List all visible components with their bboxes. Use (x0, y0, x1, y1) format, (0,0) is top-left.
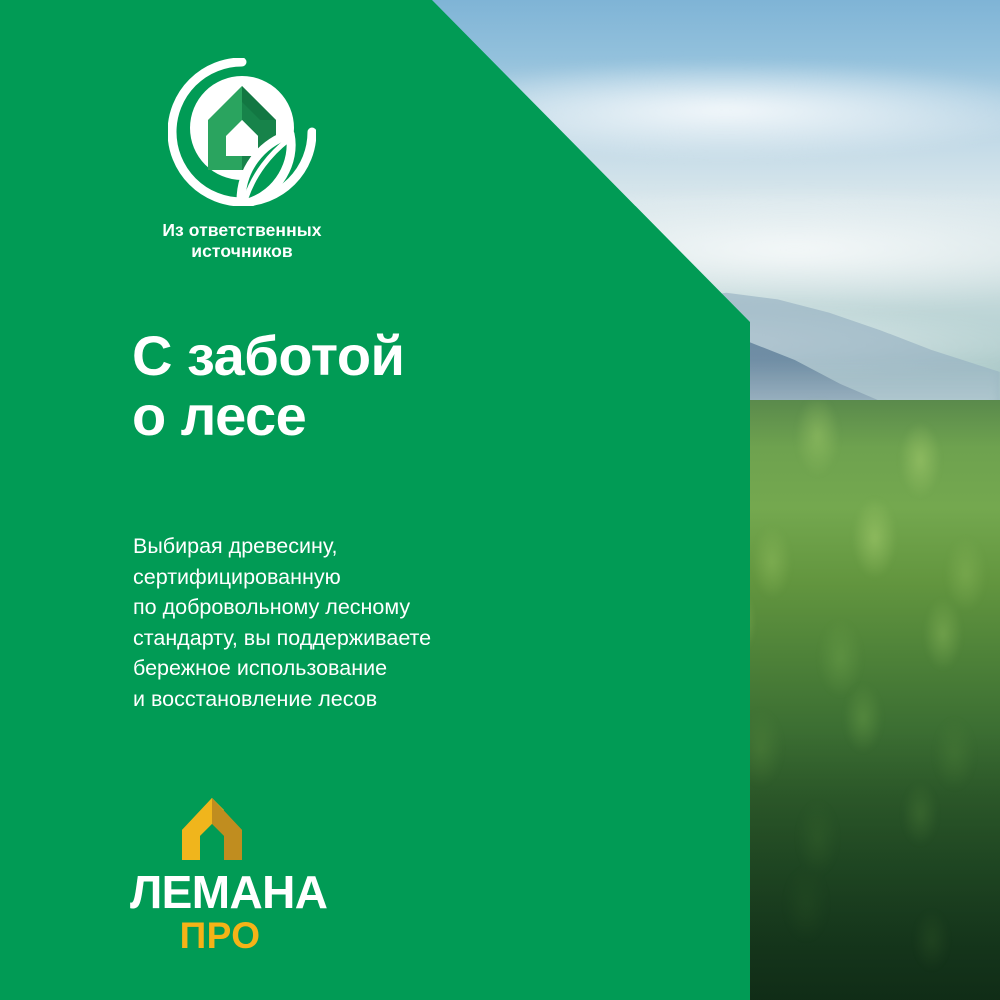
brand-name: ЛЕМАНА (130, 870, 310, 914)
badge-caption-line-1: Из ответственных (136, 220, 348, 241)
body-line-6: и восстановление лесов (133, 684, 553, 715)
brand-logo: ЛЕМАНА ПРО (134, 796, 364, 954)
badge-caption-line-2: источников (136, 241, 348, 262)
body-line-5: бережное использование (133, 653, 553, 684)
headline: С заботой о лесе (132, 326, 612, 446)
brand-suffix: ПРО (130, 917, 310, 954)
badge-caption: Из ответственных источников (136, 220, 348, 261)
lemana-house-icon (178, 796, 246, 862)
responsible-sources-badge: Из ответственных источников (128, 58, 368, 261)
headline-line-1: С заботой (132, 326, 612, 386)
body-line-1: Выбирая древесину, (133, 531, 553, 562)
body-line-3: по добровольному лесному (133, 592, 553, 623)
body-line-4: стандарту, вы поддерживаете (133, 623, 553, 654)
poster-canvas: Из ответственных источников С заботой о … (0, 0, 1000, 1000)
house-leaf-circle-icon (168, 58, 316, 206)
headline-line-2: о лесе (132, 386, 612, 446)
body-copy: Выбирая древесину, сертифицированную по … (133, 531, 553, 714)
body-line-2: сертифицированную (133, 562, 553, 593)
